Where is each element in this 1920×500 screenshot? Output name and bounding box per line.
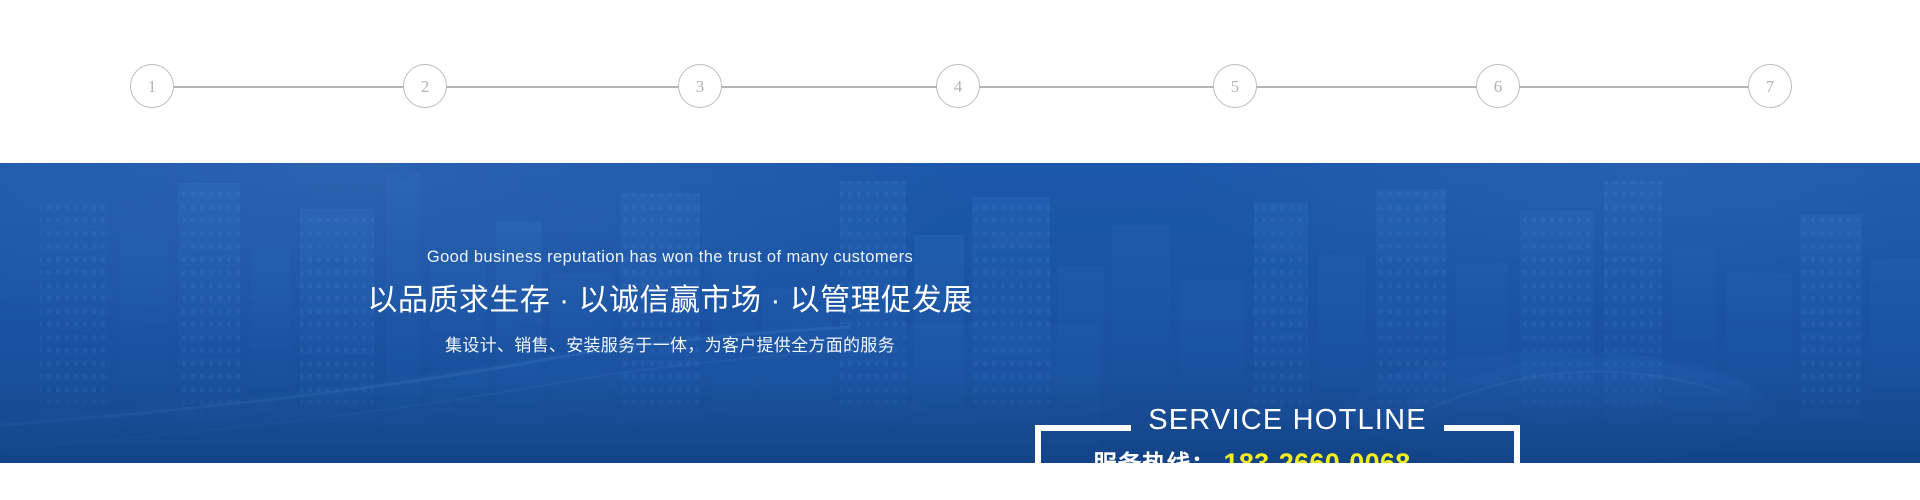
step-node-6[interactable]: 6 (1476, 64, 1520, 108)
step-node-4[interactable]: 4 (936, 64, 980, 108)
step-node-7[interactable]: 7 (1748, 64, 1792, 108)
ground-haze (0, 378, 1920, 463)
frame-border-top-right (1444, 425, 1520, 431)
hotline-number-primary[interactable]: 183-2660-0068 (1224, 447, 1411, 463)
step-label: 6 (1494, 78, 1503, 95)
slogan-subline: 集设计、销售、安装服务于一体，为客户提供全方面的服务 (360, 331, 980, 356)
step-label: 7 (1766, 78, 1775, 95)
hotline-panel: SERVICE HOTLINE 服务热线： 183-2660-0068 服务热线… (1035, 425, 1520, 463)
step-label: 1 (148, 78, 157, 95)
stepper-bar: 1 2 3 4 5 6 7 (0, 0, 1920, 163)
slogan-block: Good business reputation has won the tru… (360, 248, 980, 356)
step-label: 4 (954, 78, 963, 95)
hotline-label: 服务热线： (1093, 450, 1216, 463)
slogan-english: Good business reputation has won the tru… (360, 248, 980, 267)
hotline-title: SERVICE HOTLINE (1131, 406, 1444, 435)
step-node-2[interactable]: 2 (403, 64, 447, 108)
hotline-numbers-group: 服务热线： 183-2660-0068 服务热线： 0551-63749777 (1041, 447, 1514, 463)
slogan-headline: 以品质求生存 · 以诚信赢市场 · 以管理促发展 (360, 275, 980, 319)
step-node-3[interactable]: 3 (678, 64, 722, 108)
promo-banner: Good business reputation has won the tru… (0, 163, 1920, 463)
step-label: 2 (421, 78, 430, 95)
step-label: 5 (1231, 78, 1240, 95)
hotline-row-primary: 服务热线： 183-2660-0068 (1041, 447, 1514, 463)
step-label: 3 (696, 78, 705, 95)
step-node-5[interactable]: 5 (1213, 64, 1257, 108)
frame-border-top-left (1035, 425, 1131, 431)
step-node-1[interactable]: 1 (130, 64, 174, 108)
